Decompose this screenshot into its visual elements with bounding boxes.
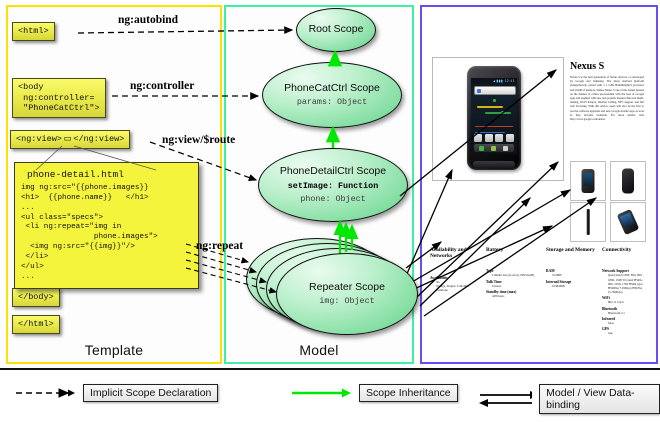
phone-app-icon-3 bbox=[495, 134, 503, 142]
scope-phonedetailctrl-prop-phone: phone: Object bbox=[300, 194, 365, 204]
spec-value: 512MB bbox=[552, 273, 598, 277]
spec-list-connectivity: Network Support Quad-band GSM: 850, 900,… bbox=[602, 269, 648, 335]
template-tag-body-close: </body> bbox=[12, 288, 60, 307]
template-tag-html-close: </html> bbox=[12, 315, 60, 334]
spec-value: 802.11 b/g/n bbox=[608, 300, 648, 304]
edge-label-route: ng:view/$route bbox=[162, 134, 235, 146]
phone-wallpaper-dot-2 bbox=[501, 111, 504, 114]
legend-double-arrow-icon bbox=[478, 390, 532, 408]
phone-wallpaper-line-4 bbox=[475, 132, 505, 133]
phone-statusbar: ▲▮▮▮ 12:41 bbox=[493, 79, 515, 83]
thumbnail-4-image bbox=[617, 209, 640, 235]
spec-column-availability: Availability and Networks Availability 3… bbox=[430, 247, 478, 308]
partial-source-code: img ng:src="{{phone.images}} <h1> {{phon… bbox=[21, 184, 193, 283]
legend-label-scope-inheritance: Scope Inheritance bbox=[359, 384, 458, 402]
phone-wallpaper-dot-1 bbox=[493, 99, 496, 102]
spec-heading-availability: Availability and Networks bbox=[430, 247, 478, 260]
scope-phonedetailctrl-prop-setimage: setImage: Function bbox=[288, 181, 378, 191]
scope-root-label: Root Scope bbox=[309, 24, 364, 36]
spec-column-storage: Storage and Memory RAM 512MB Internal St… bbox=[546, 247, 598, 304]
phone-app-icon-4 bbox=[506, 134, 514, 142]
thumbnail-3[interactable] bbox=[570, 202, 606, 242]
phone-search-widget bbox=[474, 86, 516, 95]
spec-list-storage: RAM 512MB Internal Storage 16384MB bbox=[546, 269, 598, 287]
template-partial-note: phone-detail.html img ng:src="{{phone.im… bbox=[14, 162, 199, 289]
scope-repeater-prop-img: img: Object bbox=[319, 296, 374, 306]
product-title: Nexus S bbox=[570, 61, 604, 72]
thumbnail-1[interactable] bbox=[570, 161, 606, 201]
spec-value: Lithium Ion (Li-Ion) (1500 mAH) bbox=[492, 273, 540, 277]
spec-value: Orange, Singtel, T-Mobile, Vodafone bbox=[436, 284, 478, 292]
phone-bottom-bezel bbox=[473, 161, 515, 168]
hero-image-frame[interactable]: ▲▮▮▮ 12:41 bbox=[432, 57, 564, 181]
scope-repeater: Repeater Scope img: Object bbox=[276, 253, 418, 335]
panel-template-label: Template bbox=[8, 342, 220, 358]
scope-phonedetailctrl-label: PhoneDetailCtrl Scope bbox=[280, 166, 386, 178]
spec-value: false bbox=[608, 321, 648, 325]
thumbnail-3-image bbox=[587, 209, 590, 235]
spec-column-connectivity: Connectivity Network Support Quad-band G… bbox=[602, 247, 648, 351]
phone-wallpaper-line-3 bbox=[475, 126, 513, 127]
scope-phonecatctrl-prop-params: params: Object bbox=[297, 97, 367, 107]
phone-dock-browser-icon bbox=[503, 146, 508, 151]
spec-list-battery: Type Lithium Ion (Li-Ion) (1500 mAH) Tal… bbox=[486, 269, 540, 298]
spec-heading-battery: Battery bbox=[486, 247, 540, 253]
thumbnail-2[interactable] bbox=[610, 161, 646, 201]
scope-root: Root Scope bbox=[296, 8, 376, 52]
spec-list-availability: Availability 3G Orange, Singtel, T-Mobil… bbox=[430, 276, 478, 293]
diagram-stage: Template Model View <html> <body ng:cont… bbox=[0, 0, 660, 420]
spec-value: 428 hours bbox=[492, 294, 540, 298]
spec-heading-connectivity: Connectivity bbox=[602, 247, 648, 253]
legend-label-data-binding: Model / View Data-binding bbox=[539, 384, 660, 414]
legend-green-arrow-icon bbox=[290, 387, 352, 399]
partial-file-name: phone-detail.html bbox=[27, 169, 193, 180]
legend-item-implicit-scope: Implicit Scope Declaration bbox=[14, 384, 218, 402]
thumbnail-4[interactable] bbox=[610, 202, 646, 242]
phone-dock-apps-icon bbox=[491, 146, 496, 151]
phone-app-icon-2 bbox=[485, 134, 493, 142]
phone-wallpaper-line-2 bbox=[485, 112, 511, 114]
phone-dock bbox=[474, 144, 514, 152]
view-rendered-page: ▲▮▮▮ 12:41 bbox=[424, 9, 650, 356]
spec-table: Availability and Networks Availability 3… bbox=[428, 247, 646, 347]
spec-value: 16384MB bbox=[552, 284, 598, 288]
template-tag-ngview: <ng:view> ▭ </ng:view> bbox=[10, 130, 130, 149]
spec-value: 6 hours bbox=[492, 284, 540, 288]
scope-repeater-label: Repeater Scope bbox=[309, 282, 385, 294]
phone-search-icon bbox=[477, 89, 481, 93]
spec-value: Quad-band GSM: 850, 900, 1800, 1900 Tri-… bbox=[608, 273, 648, 294]
product-description: Nexus S is the next generation of Nexus … bbox=[570, 75, 644, 121]
spec-column-battery: Battery Type Lithium Ion (Li-Ion) (1500 … bbox=[486, 247, 540, 314]
spec-heading-storage: Storage and Memory bbox=[546, 247, 598, 253]
thumbnail-2-image bbox=[622, 169, 634, 194]
spec-value: Bluetooth 2.1 bbox=[608, 311, 648, 315]
phone-dock-phone-icon bbox=[479, 146, 484, 151]
scope-phonecatctrl-label: PhoneCatCtrl Scope bbox=[284, 83, 380, 95]
edge-label-autobind: ng:autobind bbox=[118, 14, 178, 26]
scope-phonedetailctrl: PhoneDetailCtrl Scope setImage: Function… bbox=[258, 148, 408, 222]
legend-item-scope-inheritance: Scope Inheritance bbox=[290, 384, 458, 402]
template-tag-body: <body ng:controller= "PhoneCatCtrl"> bbox=[12, 78, 106, 118]
panel-model-label: Model bbox=[226, 342, 412, 358]
thumbnail-1-image bbox=[582, 169, 595, 193]
scope-phonecatctrl: PhoneCatCtrl Scope params: Object bbox=[262, 62, 402, 128]
legend-dashed-arrow-icon bbox=[14, 387, 76, 399]
phone-app-icon-1 bbox=[474, 134, 482, 142]
legend: Implicit Scope Declaration Scope Inherit… bbox=[0, 368, 660, 422]
phone-hero-image: ▲▮▮▮ 12:41 bbox=[467, 66, 521, 170]
phone-app-icon-row bbox=[474, 134, 514, 142]
edge-label-repeat: ng:repeat bbox=[196, 240, 243, 252]
spec-value: true bbox=[608, 331, 648, 335]
legend-label-implicit-scope: Implicit Scope Declaration bbox=[83, 384, 218, 402]
edge-label-controller: ng:controller bbox=[130, 80, 194, 92]
phone-screen: ▲▮▮▮ 12:41 bbox=[471, 78, 517, 154]
phone-wallpaper-line-1 bbox=[477, 106, 503, 108]
legend-item-data-binding: Model / View Data-binding bbox=[478, 384, 660, 414]
prop-setimage-text: setImage: Function bbox=[288, 181, 378, 191]
template-tag-html: <html> bbox=[12, 22, 55, 41]
